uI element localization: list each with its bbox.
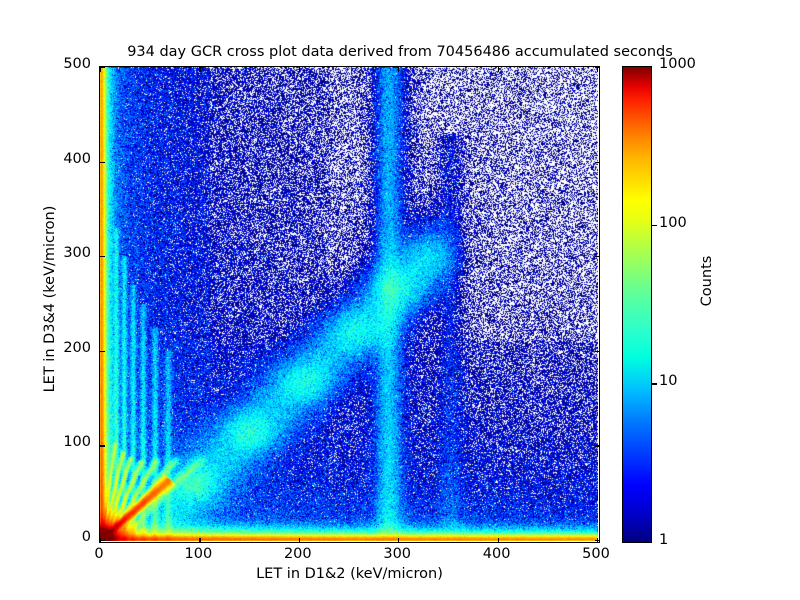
x-tick-label: 0 [64,546,134,562]
y-tick-mark [595,67,600,68]
y-tick-mark [100,351,105,352]
colorbar[interactable] [622,66,652,543]
x-tick-mark [398,538,399,543]
colorbar-tick-label: 1 [659,532,668,548]
x-tick-mark [199,67,200,72]
y-tick-label: 500 [5,56,91,72]
y-tick-mark [100,445,105,446]
plot-area[interactable] [99,66,600,543]
histogram-image [100,67,598,541]
y-tick-label: 100 [5,434,91,450]
y-tick-mark [100,162,105,163]
colorbar-tick-label: 1000 [659,56,696,72]
x-tick-label: 500 [561,546,631,562]
x-tick-label: 400 [462,546,532,562]
colorbar-tick-label: 10 [659,373,677,389]
colorbar-title: Counts [699,171,715,391]
y-tick-mark [595,540,600,541]
x-tick-mark [498,67,499,72]
x-tick-label: 200 [263,546,333,562]
y-tick-mark [595,256,600,257]
colorbar-tick-mark [652,383,657,384]
y-tick-label: 0 [5,529,91,545]
colorbar-tick-label: 100 [659,215,687,231]
x-tick-mark [498,538,499,543]
y-tick-mark [595,445,600,446]
x-tick-mark [398,67,399,72]
x-axis-title: LET in D1&2 (keV/micron) [99,566,600,582]
x-tick-label: 100 [163,546,233,562]
figure-canvas: 934 day GCR cross plot data derived from… [0,0,800,600]
y-tick-label: 400 [5,151,91,167]
y-tick-label: 200 [5,340,91,356]
x-tick-mark [299,67,300,72]
x-tick-mark [199,538,200,543]
y-tick-mark [595,351,600,352]
colorbar-tick-mark [652,225,657,226]
x-tick-label: 300 [362,546,432,562]
y-tick-mark [100,67,105,68]
y-tick-mark [595,162,600,163]
x-tick-mark [299,538,300,543]
y-tick-mark [100,540,105,541]
y-tick-label: 300 [5,245,91,261]
y-tick-mark [100,256,105,257]
